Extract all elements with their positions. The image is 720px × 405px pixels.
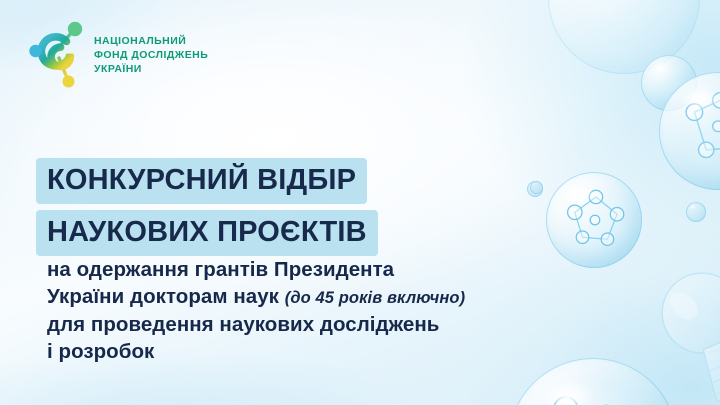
headline-block: КОНКУРСНИЙ ВІДБІР НАУКОВИХ ПРОЄКТІВ [36,158,378,256]
headline-line-1: КОНКУРСНИЙ ВІДБІР [36,158,367,204]
logo-line-3: УКРАЇНИ [94,63,142,75]
laboratory-flask [655,268,720,405]
banner-canvas: НАЦІОНАЛЬНИЙ ФОНД ДОСЛІДЖЕНЬ УКРАЇНИ КОН… [0,0,720,405]
nrfu-logo-text: НАЦІОНАЛЬНИЙ ФОНД ДОСЛІДЖЕНЬ УКРАЇНИ [94,32,208,76]
logo-line-2: ФОНД ДОСЛІДЖЕНЬ [94,49,208,61]
subtitle-line-2-bold: України докторам наук [47,285,279,308]
bubble-tiny-bottom [530,181,543,194]
logo-line-1: НАЦІОНАЛЬНИЙ [94,35,186,47]
molecule-glyph [546,172,642,268]
nrfu-spiral-molecule-logo-icon [26,18,86,90]
nrfu-logo: НАЦІОНАЛЬНИЙ ФОНД ДОСЛІДЖЕНЬ УКРАЇНИ [26,18,208,90]
bubble-tiny-right [686,202,706,222]
subtitle-age-note: (до 45 років включно) [285,289,465,307]
subtitle-line-2: України докторам наук (до 45 років включ… [47,283,567,310]
headline-line-2: НАУКОВИХ ПРОЄКТІВ [36,210,378,256]
bubble-mid-right [546,172,642,268]
subtitle-line-4: і розробок [47,338,567,365]
subtitle-block: на одержання грантів Президента України … [47,256,567,366]
subtitle-line-1: на одержання грантів Президента [47,256,567,283]
subtitle-line-3: для проведення наукових досліджень [47,311,567,338]
